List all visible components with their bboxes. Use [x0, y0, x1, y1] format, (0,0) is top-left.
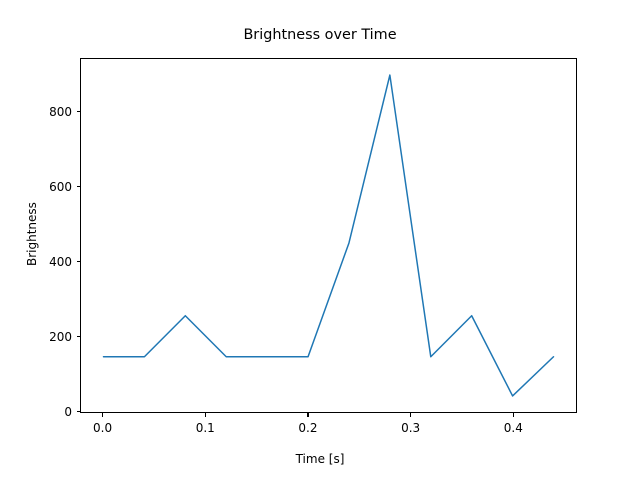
x-tick-mark	[410, 413, 411, 417]
y-tick-label: 600	[0, 180, 72, 194]
plot-area	[80, 58, 577, 413]
data-line-svg	[81, 59, 576, 412]
x-axis-label: Time [s]	[0, 452, 640, 466]
y-tick-label: 400	[0, 255, 72, 269]
y-tick-label: 800	[0, 105, 72, 119]
x-tick-label: 0.3	[401, 421, 420, 435]
y-tick-label: 200	[0, 330, 72, 344]
x-tick-mark	[205, 413, 206, 417]
x-tick-label: 0.2	[298, 421, 317, 435]
brightness-line-series	[103, 75, 553, 396]
x-tick-label: 0.1	[196, 421, 215, 435]
x-tick-label: 0.0	[93, 421, 112, 435]
x-tick-mark	[307, 413, 308, 417]
figure-canvas: Brightness over Time Brightness Time [s]…	[0, 0, 640, 480]
x-tick-mark	[513, 413, 514, 417]
y-tick-label: 0	[0, 405, 72, 419]
x-tick-label: 0.4	[504, 421, 523, 435]
chart-title: Brightness over Time	[0, 27, 640, 43]
x-tick-mark	[102, 413, 103, 417]
